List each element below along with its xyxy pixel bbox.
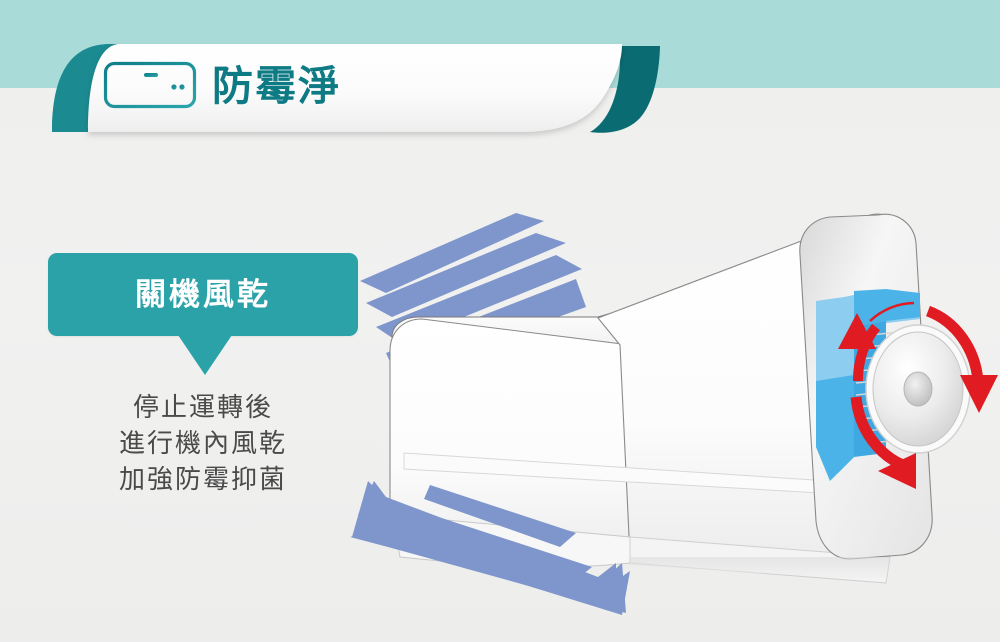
- banner-plate: [88, 44, 622, 132]
- callout-label: 關機風乾: [135, 279, 271, 310]
- callout-box: 關機風乾: [48, 253, 358, 336]
- callout-tail-icon: [178, 335, 232, 375]
- description-line-3: 加強防霉抑菌: [48, 462, 358, 498]
- description-line-1: 停止運轉後: [48, 390, 358, 426]
- body-bottom-shadow: [630, 557, 890, 581]
- header-ribbon: 防霉淨: [0, 0, 1000, 160]
- poster-stage: 防霉淨 關機風乾 停止運轉後 進行機內風乾 加強防霉抑菌: [0, 0, 1000, 642]
- page-title: 防霉淨: [212, 66, 341, 107]
- description-line-2: 進行機內風乾: [48, 426, 358, 462]
- description-block: 停止運轉後 進行機內風乾 加強防霉抑菌: [48, 390, 358, 498]
- air-conditioner-illustration: [330, 185, 1000, 615]
- cross-flow-fan: [866, 325, 970, 453]
